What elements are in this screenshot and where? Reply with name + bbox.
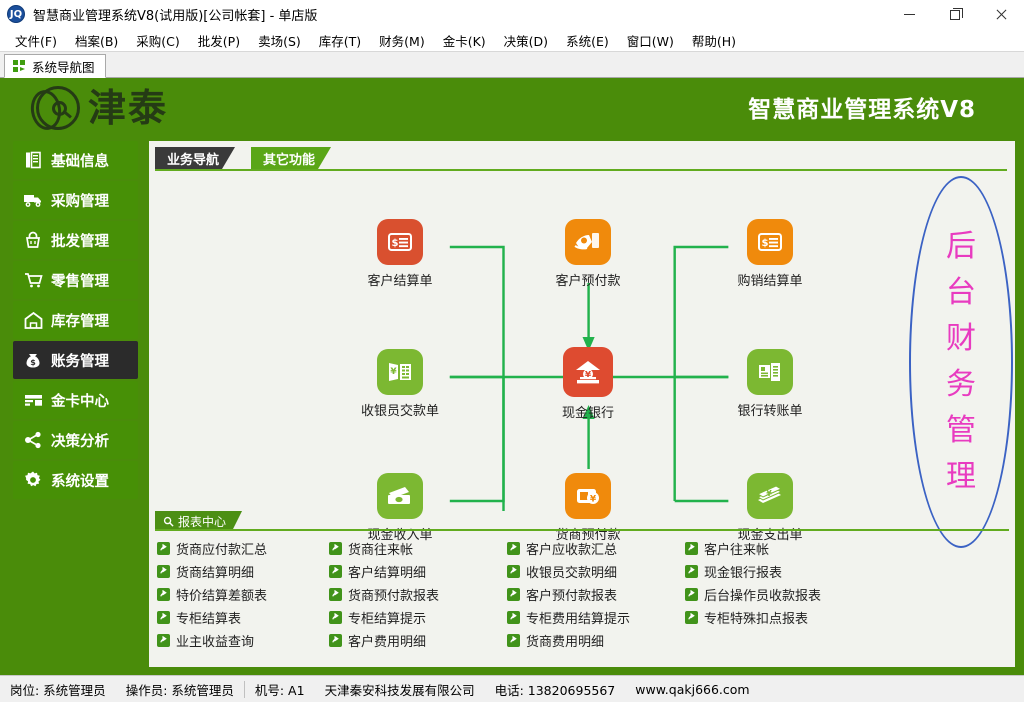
sidebar-item-purchase[interactable]: 采购管理 (13, 181, 138, 219)
arrow-right-icon (157, 565, 170, 578)
close-button[interactable] (978, 0, 1024, 29)
invoice-icon: $ (747, 219, 793, 265)
report-item[interactable]: 收银员交款明细 (507, 562, 685, 580)
annotation-char: 务 (946, 362, 976, 408)
flow-node-cash-income[interactable]: 现金收入单 (354, 473, 446, 543)
flow-node-customer-prepayment[interactable]: 客户预付款 (542, 219, 634, 289)
arrow-right-icon (507, 634, 520, 647)
sidebar-item-goldcard[interactable]: 金卡中心 (13, 381, 138, 419)
arrow-right-icon (685, 565, 698, 578)
sidebar-item-decision[interactable]: 决策分析 (13, 421, 138, 459)
menu-window[interactable]: 窗口(W) (618, 29, 683, 52)
report-item[interactable]: 专柜费用结算提示 (507, 608, 685, 626)
warehouse-icon (22, 309, 44, 331)
arrow-right-icon (157, 634, 170, 647)
card-icon (22, 389, 44, 411)
status-website: www.qakj666.com (625, 682, 759, 697)
content-panel: 业务导航 其它功能 (149, 141, 1015, 667)
arrow-right-icon (685, 611, 698, 624)
tab-system-navigation[interactable]: 系统导航图 (4, 54, 106, 78)
report-item-label: 专柜结算提示 (348, 608, 426, 627)
status-machine: 机号: A1 (245, 680, 315, 699)
flow-node-label: 银行转账单 (724, 400, 816, 419)
arrow-right-icon (507, 565, 520, 578)
status-operator: 操作员: 系统管理员 (116, 680, 244, 699)
close-icon (995, 9, 1007, 21)
sidebar-item-label: 批发管理 (51, 230, 109, 251)
report-item-label: 货商结算明细 (176, 562, 254, 581)
report-item[interactable]: 货商结算明细 (157, 562, 329, 580)
flow-node-bank-transfer[interactable]: 银行转账单 (724, 349, 816, 419)
report-center-title: 报表中心 (178, 513, 226, 530)
arrow-right-icon (685, 542, 698, 555)
report-item[interactable]: 专柜结算提示 (329, 608, 507, 626)
report-item[interactable]: 客户预付款报表 (507, 585, 685, 603)
flow-node-customer-settlement[interactable]: $ 客户结算单 (354, 219, 446, 289)
sidebar-item-inventory[interactable]: 库存管理 (13, 301, 138, 339)
report-item[interactable]: 客户结算明细 (329, 562, 507, 580)
report-item-label: 货商费用明细 (526, 631, 604, 650)
brand-name: 津泰 (88, 85, 168, 131)
report-item[interactable]: 现金银行报表 (685, 562, 885, 580)
bank-icon: ¥ (563, 347, 613, 397)
menu-wholesale[interactable]: 批发(P) (189, 29, 249, 52)
menu-finance[interactable]: 财务(M) (370, 29, 434, 52)
menu-decision[interactable]: 决策(D) (495, 29, 557, 52)
report-center-tab[interactable]: 报表中心 (155, 511, 242, 531)
arrow-right-icon (507, 588, 520, 601)
report-item-label: 货商应付款汇总 (176, 539, 267, 558)
tab-other-functions[interactable]: 其它功能 (251, 147, 331, 169)
arrow-right-icon (329, 542, 342, 555)
sidebar-item-basic-info[interactable]: 基础信息 (13, 141, 138, 179)
report-item-label: 现金银行报表 (704, 562, 782, 581)
status-bar: 岗位: 系统管理员 操作员: 系统管理员 机号: A1 天津秦安科技发展有限公司… (0, 675, 1024, 702)
report-item[interactable]: 货商费用明细 (507, 631, 685, 649)
sidebar-item-label: 零售管理 (51, 270, 109, 291)
arrow-right-icon (685, 588, 698, 601)
annotation-ellipse: 后 台 财 务 管 理 (909, 176, 1013, 548)
report-item[interactable]: 特价结算差额表 (157, 585, 329, 603)
minimize-button[interactable] (886, 0, 932, 29)
menu-store[interactable]: 卖场(S) (249, 29, 310, 52)
svg-text:$: $ (392, 238, 399, 249)
invoice-icon: $ (377, 219, 423, 265)
tab-business-navigation[interactable]: 业务导航 (155, 147, 235, 169)
gear-icon (22, 469, 44, 491)
moneybag-icon: $ (22, 349, 44, 371)
report-item[interactable]: 货商预付款报表 (329, 585, 507, 603)
title-bar: JQ 智慧商业管理系统V8(试用版)[公司帐套] - 单店版 (0, 0, 1024, 29)
svg-text:$: $ (762, 238, 769, 249)
menu-system[interactable]: 系统(E) (557, 29, 618, 52)
main-frame: 津泰 智慧商业管理系统V8 基础信息 采购管理 (0, 78, 1024, 675)
sidebar-item-label: 决策分析 (51, 430, 109, 451)
app-icon: JQ (7, 5, 25, 23)
menu-help[interactable]: 帮助(H) (683, 29, 745, 52)
minimize-icon (904, 14, 915, 15)
sidebar-item-label: 基础信息 (51, 150, 109, 171)
nav-tab-row: 业务导航 其它功能 (155, 147, 1015, 171)
arrow-right-icon (157, 588, 170, 601)
report-item-label: 专柜结算表 (176, 608, 241, 627)
status-company: 天津秦安科技发展有限公司 (315, 680, 485, 699)
report-item[interactable]: 专柜结算表 (157, 608, 329, 626)
cash-hand-icon (565, 219, 611, 265)
banner: 津泰 智慧商业管理系统V8 (0, 78, 1024, 136)
flow-node-label: 收银员交款单 (354, 400, 446, 419)
sidebar: 基础信息 采购管理 批发管理 零售管理 (0, 136, 147, 675)
sidebar-item-retail[interactable]: 零售管理 (13, 261, 138, 299)
report-item-empty (685, 631, 885, 649)
cart-icon (22, 269, 44, 291)
sidebar-item-label: 库存管理 (51, 310, 109, 331)
flow-node-cashier-payment[interactable]: ¥ 收银员交款单 (354, 349, 446, 419)
flow-node-label: 客户结算单 (354, 270, 446, 289)
svg-text:$: $ (30, 358, 36, 367)
report-item-label: 收银员交款明细 (526, 562, 617, 581)
arrow-right-icon (157, 611, 170, 624)
status-post: 岗位: 系统管理员 (0, 680, 116, 699)
maximize-button[interactable] (932, 0, 978, 29)
svg-text:¥: ¥ (766, 489, 772, 498)
flow-node-purchase-sales-settlement[interactable]: $ 购销结算单 (724, 219, 816, 289)
annotation-char: 管 (946, 408, 976, 454)
brand-logo: 津泰 (30, 84, 168, 132)
window-controls (886, 0, 1024, 29)
sidebar-item-settings[interactable]: 系统设置 (13, 461, 138, 499)
flow-node-supplier-prepayment[interactable]: ¥ 货商预付款 (542, 473, 634, 543)
banner-title: 智慧商业管理系统V8 (748, 90, 976, 124)
flow-node-cash-expense[interactable]: ¥ 现金支出单 (724, 473, 816, 543)
arrow-right-icon (507, 611, 520, 624)
menu-stock[interactable]: 库存(T) (310, 29, 370, 52)
flow-diagram: $ 客户结算单 客户预付款 $ 购销结算单 (149, 171, 1015, 511)
report-item[interactable]: 专柜特殊扣点报表 (685, 608, 885, 626)
sidebar-item-label: 系统设置 (51, 470, 109, 491)
annotation-char: 财 (946, 316, 976, 362)
report-item-label: 业主收益查询 (176, 631, 254, 650)
sidebar-item-accounting[interactable]: $ 账务管理 (13, 341, 138, 379)
report-item-label: 后台操作员收款报表 (704, 585, 821, 604)
report-list: 货商应付款汇总 货商往来帐 客户应收款汇总 客户往来帐 货商结算明细 客户结算明… (157, 539, 1015, 649)
report-underline (155, 529, 1009, 531)
arrow-right-icon (329, 565, 342, 578)
svg-text:¥: ¥ (590, 495, 597, 505)
sidebar-item-label: 金卡中心 (51, 390, 109, 411)
annotation-char: 后 (946, 224, 976, 270)
report-item[interactable]: 后台操作员收款报表 (685, 585, 885, 603)
window-title: 智慧商业管理系统V8(试用版)[公司帐套] - 单店版 (33, 5, 317, 24)
annotation-char: 台 (946, 270, 976, 316)
ledger-icon: ¥ (377, 349, 423, 395)
body-split: 基础信息 采购管理 批发管理 零售管理 (0, 136, 1024, 675)
arrow-right-icon (507, 542, 520, 555)
tab-label: 系统导航图 (32, 57, 95, 76)
sidebar-item-label: 采购管理 (51, 190, 109, 211)
status-phone: 电话: 13820695567 (485, 680, 626, 699)
book-icon (22, 149, 44, 171)
report-item-label: 货商预付款报表 (348, 585, 439, 604)
sidebar-item-label: 账务管理 (51, 350, 109, 371)
report-item-label: 专柜费用结算提示 (526, 608, 630, 627)
menu-purchase[interactable]: 采购(C) (127, 29, 188, 52)
transfer-icon (747, 349, 793, 395)
menu-file[interactable]: 文件(F) (6, 29, 66, 52)
report-item-label: 特价结算差额表 (176, 585, 267, 604)
menu-bar: 文件(F) 档案(B) 采购(C) 批发(P) 卖场(S) 库存(T) 财务(M… (0, 29, 1024, 51)
nav-grid-icon (13, 60, 27, 72)
maximize-icon (950, 10, 960, 20)
sidebar-item-wholesale[interactable]: 批发管理 (13, 221, 138, 259)
report-item[interactable]: 业主收益查询 (157, 631, 329, 649)
flow-node-label: 购销结算单 (724, 270, 816, 289)
menu-archive[interactable]: 档案(B) (66, 29, 127, 52)
flow-node-cash-bank[interactable]: ¥ 现金银行 (542, 347, 634, 421)
report-item[interactable]: 客户费用明细 (329, 631, 507, 649)
annotation-char: 理 (946, 454, 976, 500)
share-icon (22, 429, 44, 451)
arrow-right-icon (329, 588, 342, 601)
report-center-header: 报表中心 (155, 511, 1009, 531)
report-item-label: 客户结算明细 (348, 562, 426, 581)
document-tab-strip: 系统导航图 (0, 51, 1024, 78)
search-icon (163, 516, 174, 527)
truck-icon (22, 189, 44, 211)
arrow-right-icon (329, 611, 342, 624)
arrow-right-icon (157, 542, 170, 555)
flow-node-label: 客户预付款 (542, 270, 634, 289)
jintai-logo-icon (30, 84, 82, 132)
arrow-right-icon (329, 634, 342, 647)
flow-node-label: 现金银行 (542, 402, 634, 421)
report-item-label: 客户费用明细 (348, 631, 426, 650)
report-item[interactable]: 货商应付款汇总 (157, 539, 329, 557)
report-item-label: 专柜特殊扣点报表 (704, 608, 808, 627)
report-item-label: 客户预付款报表 (526, 585, 617, 604)
svg-text:¥: ¥ (390, 367, 397, 377)
basket-icon (22, 229, 44, 251)
menu-goldcard[interactable]: 金卡(K) (434, 29, 495, 52)
